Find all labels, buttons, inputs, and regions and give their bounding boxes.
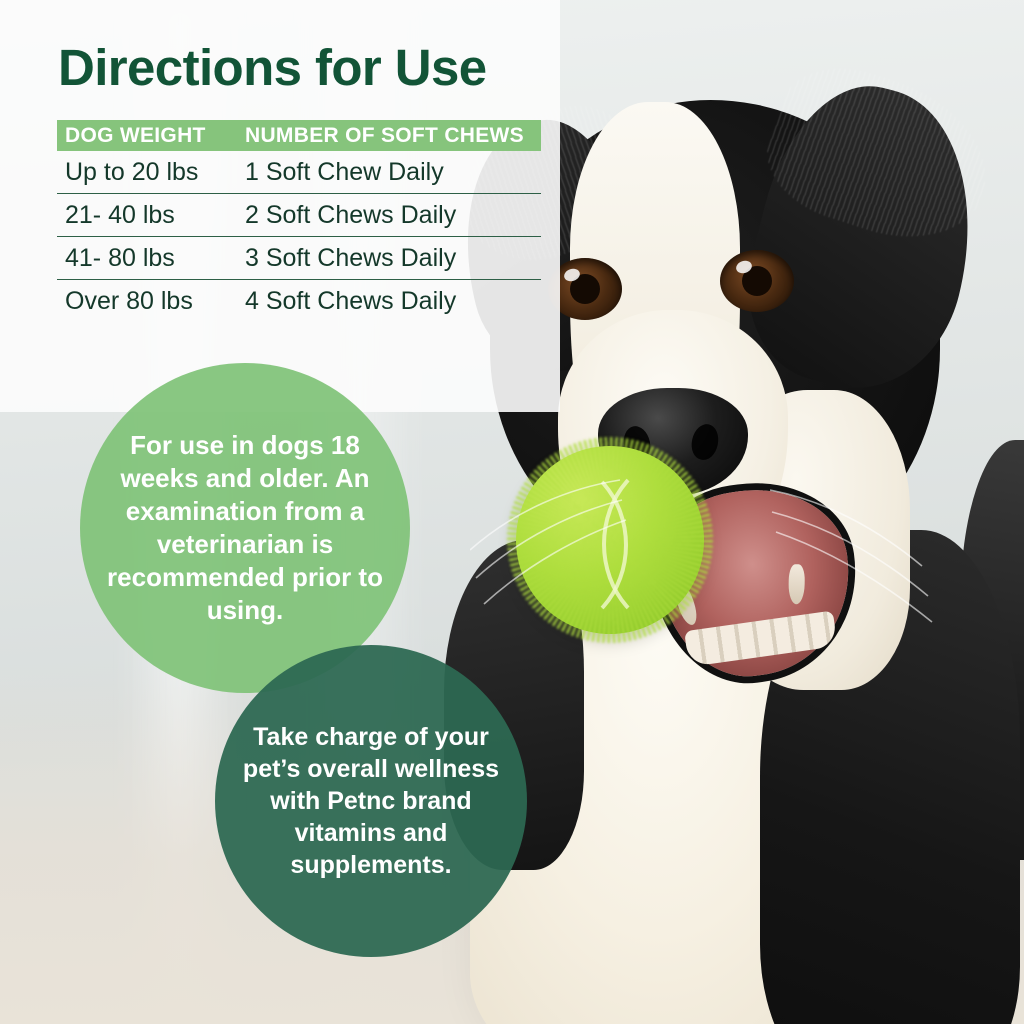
cell-dog-weight: 21- 40 lbs <box>57 201 237 230</box>
column-header-number-of-chews: NUMBER OF SOFT CHEWS <box>237 124 541 148</box>
cell-chew-count: 4 Soft Chews Daily <box>237 287 541 316</box>
callout-bubble-brand: Take charge of your pet’s overall wellne… <box>215 645 527 957</box>
table-row: Over 80 lbs 4 Soft Chews Daily <box>57 280 541 322</box>
page-title: Directions for Use <box>58 38 486 97</box>
table-header-row: DOG WEIGHT NUMBER OF SOFT CHEWS <box>57 120 541 151</box>
cell-dog-weight: Over 80 lbs <box>57 287 237 316</box>
infographic-canvas: Directions for Use DOG WEIGHT NUMBER OF … <box>0 0 1024 1024</box>
table-row: 41- 80 lbs 3 Soft Chews Daily <box>57 237 541 280</box>
cell-dog-weight: Up to 20 lbs <box>57 158 237 187</box>
cell-chew-count: 1 Soft Chew Daily <box>237 158 541 187</box>
callout-bubble-usage: For use in dogs 18 weeks and older. An e… <box>80 363 410 693</box>
dosage-table: DOG WEIGHT NUMBER OF SOFT CHEWS Up to 20… <box>57 120 541 322</box>
column-header-dog-weight: DOG WEIGHT <box>57 124 237 148</box>
table-row: Up to 20 lbs 1 Soft Chew Daily <box>57 151 541 194</box>
directions-panel: Directions for Use DOG WEIGHT NUMBER OF … <box>0 0 560 412</box>
table-row: 21- 40 lbs 2 Soft Chews Daily <box>57 194 541 237</box>
cell-chew-count: 3 Soft Chews Daily <box>237 244 541 273</box>
cell-chew-count: 2 Soft Chews Daily <box>237 201 541 230</box>
cell-dog-weight: 41- 80 lbs <box>57 244 237 273</box>
dog-eye-right <box>720 250 794 312</box>
